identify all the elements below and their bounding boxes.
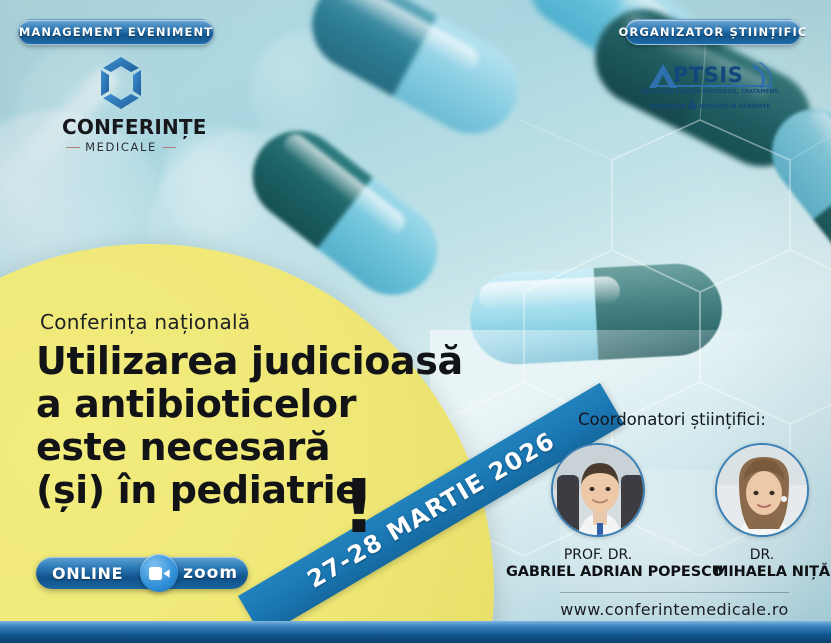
aptsis-underline xyxy=(653,85,773,87)
aptsis-tagline-line2: SIGURANȚĂ & INOVAȚIE ÎN SĂNĂTATE xyxy=(635,98,785,115)
speaker-photo-female xyxy=(715,443,809,537)
speaker-card-1: PROF. DR. GABRIEL ADRIAN POPESCU xyxy=(534,443,662,580)
bottom-bar xyxy=(0,621,831,643)
badge-organizator-stiintific: ORGANIZATOR ȘTIINȚIFIC xyxy=(625,19,801,45)
hero-title: Utilizarea judicioasă a antibioticelor e… xyxy=(36,340,456,512)
diamond-logo-icon xyxy=(93,55,149,111)
aptsis-logo: PTSIS ASOCIAȚIA PENTRU PREVENȚIE, TRATAM… xyxy=(635,62,785,114)
hero-title-line-3: este necesară xyxy=(36,426,456,469)
website-url[interactable]: www.conferintemedicale.ro xyxy=(560,600,789,619)
brand-subtitle-row: MEDICALE xyxy=(62,140,180,154)
brand-subtitle: MEDICALE xyxy=(85,140,157,154)
speaker-photo-male xyxy=(551,443,645,537)
badge-organizator-label: ORGANIZATOR ȘTIINȚIFIC xyxy=(619,25,808,39)
brand-name: CONFERINȚE xyxy=(62,117,180,137)
aptsis-ampersand: & xyxy=(688,99,698,112)
badge-management-label: MANAGEMENT EVENIMENT xyxy=(19,25,213,39)
badge-management-eveniment: MANAGEMENT EVENIMENT xyxy=(18,19,214,45)
aptsis-tagline-part-b: INOVAȚIE ÎN SĂNĂTATE xyxy=(700,104,771,110)
online-label: ONLINE xyxy=(52,564,123,583)
hero-exclamation-mark: ! xyxy=(342,470,376,544)
aptsis-tagline-part-a: SIGURANȚĂ xyxy=(650,104,686,110)
hero-title-line-1: Utilizarea judicioasă xyxy=(36,340,456,383)
hero-title-line-4: (și) în pediatrie xyxy=(36,469,456,512)
aptsis-tagline-line1: ASOCIAȚIA PENTRU PREVENȚIE, TRATAMENT, xyxy=(635,89,785,97)
zoom-wordmark: zoom xyxy=(183,563,238,583)
hero-kicker: Conferința națională xyxy=(40,310,250,334)
hero-title-line-2: a antibioticelor xyxy=(36,383,456,426)
speaker-name-2: MIHAELA NIȚĂ xyxy=(714,564,826,580)
speaker-role-2: DR. xyxy=(698,547,826,563)
speaker-role-1: PROF. DR. xyxy=(534,547,662,563)
video-camera-icon xyxy=(140,554,178,592)
coordinators-label: Coordonatori științifici: xyxy=(578,410,766,429)
aptsis-wordmark: PTSIS xyxy=(635,62,785,88)
speaker-card-2: DR. MIHAELA NIȚĂ xyxy=(698,443,826,580)
brand-rule-left xyxy=(66,147,80,148)
online-zoom-badge[interactable]: ONLINE zoom xyxy=(36,557,248,589)
speaker-name-1: GABRIEL ADRIAN POPESCU xyxy=(506,564,662,580)
brand-rule-right xyxy=(162,147,176,148)
footer-divider xyxy=(560,592,789,593)
conference-banner: 27-28 MARTIE 2026 MANAGEMENT EVENIMENT O… xyxy=(0,0,831,643)
aptsis-word-text: PTSIS xyxy=(673,63,743,87)
brand-logo: CONFERINȚE MEDICALE xyxy=(62,55,180,154)
